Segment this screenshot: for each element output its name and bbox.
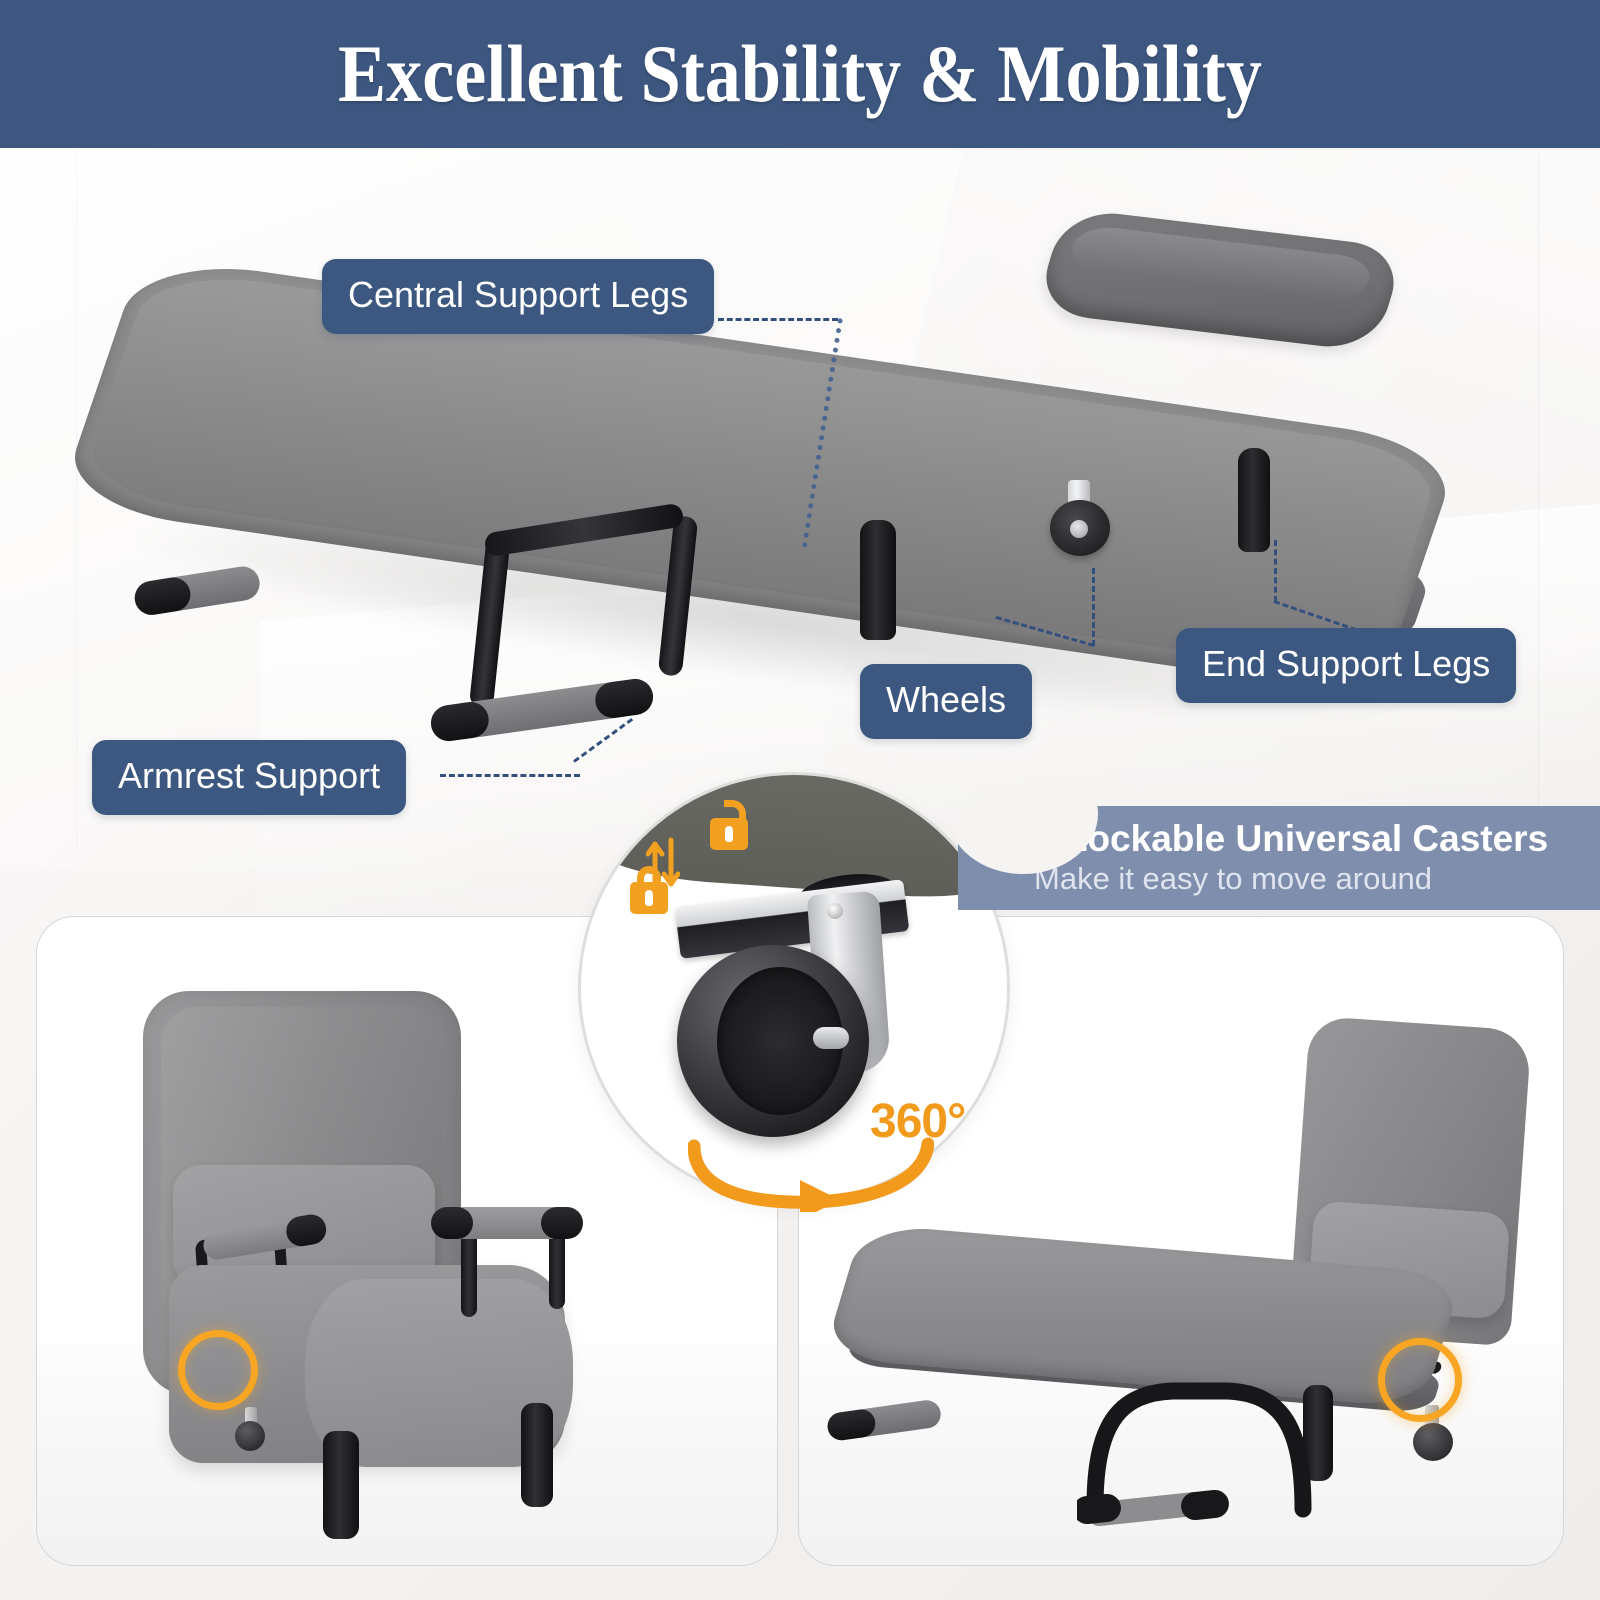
callout-wheels[interactable]: Wheels: [860, 664, 1032, 739]
callout-label: Armrest Support: [118, 755, 380, 796]
callout-label: Wheels: [886, 679, 1006, 720]
banner-title: 2 Lockable Universal Casters: [1034, 819, 1548, 859]
chaise-foot-rail: [844, 1398, 943, 1439]
caster-tyre: [235, 1421, 265, 1451]
header-banner: Excellent Stability & Mobility: [0, 0, 1600, 148]
highlight-ring-armchair-caster: [178, 1330, 258, 1410]
banner-subtitle: Make it easy to move around: [1034, 861, 1548, 898]
caster-callout-banner: 2 Lockable Universal Casters Make it eas…: [958, 806, 1600, 910]
callout-end-support-legs[interactable]: End Support Legs: [1176, 628, 1516, 703]
armrest-tube-top: [483, 503, 684, 558]
up-down-arrows-icon: [646, 836, 680, 892]
armchair-arm-post-front: [549, 1231, 565, 1309]
page-title: Excellent Stability & Mobility: [338, 27, 1262, 121]
zoom-caster-rivet: [827, 903, 843, 919]
zoom-caster-axle: [813, 1027, 849, 1049]
hero-end-support-leg: [1238, 448, 1270, 552]
armchair-caster-wheel: [233, 1407, 267, 1451]
armchair-leg-right: [521, 1403, 553, 1507]
armchair-leg-front: [323, 1431, 359, 1539]
hero-armrest-support-frame: [470, 510, 730, 710]
infographic-page: Excellent Stability & Mobility: [0, 0, 1600, 1600]
rotation-degree-label: 360°: [870, 1094, 965, 1149]
caster-hub: [1070, 520, 1088, 538]
armrest-frame-svg: [1077, 1357, 1325, 1527]
armrest-tube-right: [658, 515, 699, 677]
callout-label: End Support Legs: [1202, 643, 1490, 684]
highlight-ring-chaise-caster: [1378, 1338, 1462, 1422]
callout-central-support-legs[interactable]: Central Support Legs: [322, 259, 714, 334]
hero-pillow: [1034, 208, 1405, 353]
callout-armrest-support[interactable]: Armrest Support: [92, 740, 406, 815]
armchair-arm-post-rear: [461, 1231, 477, 1317]
hero-central-support-leg: [860, 520, 896, 640]
lock-open-icon: [710, 818, 748, 850]
armrest-tube-left: [469, 531, 511, 709]
callout-label: Central Support Legs: [348, 274, 688, 315]
chaise-armrest-frame: [1077, 1357, 1325, 1527]
hero-caster-wheel: [1050, 480, 1110, 554]
armchair-armrest-right: [447, 1207, 567, 1239]
caster-tyre: [1413, 1423, 1453, 1461]
